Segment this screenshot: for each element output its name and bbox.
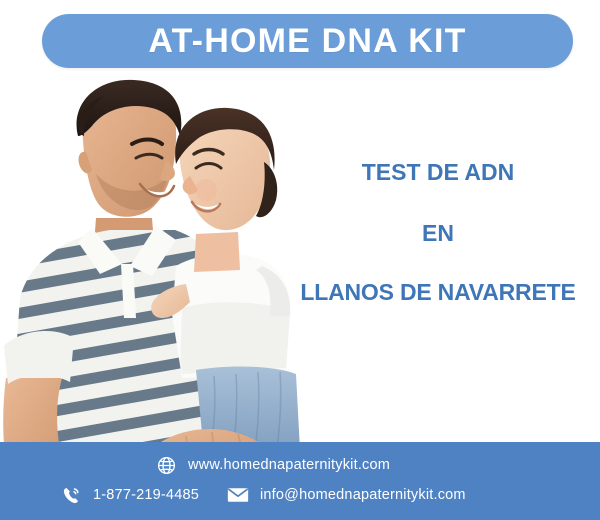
- family-photo: [0, 78, 320, 478]
- globe-icon: [155, 454, 177, 476]
- website-item[interactable]: www.homednapaternitykit.com: [155, 454, 390, 476]
- promo-card: AT-HOME DNA KIT: [0, 0, 600, 520]
- footer-website-row: www.homednapaternitykit.com: [155, 454, 390, 476]
- headline-line-3: LLANOS DE NAVARRETE: [288, 280, 588, 305]
- website-label: www.homednapaternitykit.com: [188, 458, 390, 473]
- contact-footer: www.homednapaternitykit.com 1-877-219-44…: [0, 442, 600, 520]
- phone-icon: [60, 484, 82, 506]
- email-label: info@homednapaternitykit.com: [260, 488, 466, 503]
- banner-title: AT-HOME DNA KIT: [148, 24, 466, 58]
- footer-contact-row: 1-877-219-4485 info@homednapaternitykit.…: [60, 484, 466, 506]
- headline-block: TEST DE ADN EN LLANOS DE NAVARRETE: [288, 160, 588, 305]
- email-item[interactable]: info@homednapaternitykit.com: [227, 484, 466, 506]
- envelope-icon: [227, 484, 249, 506]
- headline-line-1: TEST DE ADN: [288, 160, 588, 185]
- phone-label: 1-877-219-4485: [93, 488, 199, 503]
- title-banner: AT-HOME DNA KIT: [42, 14, 573, 68]
- headline-line-2: EN: [288, 221, 588, 246]
- phone-item[interactable]: 1-877-219-4485: [60, 484, 199, 506]
- family-photo-illustration: [0, 78, 320, 478]
